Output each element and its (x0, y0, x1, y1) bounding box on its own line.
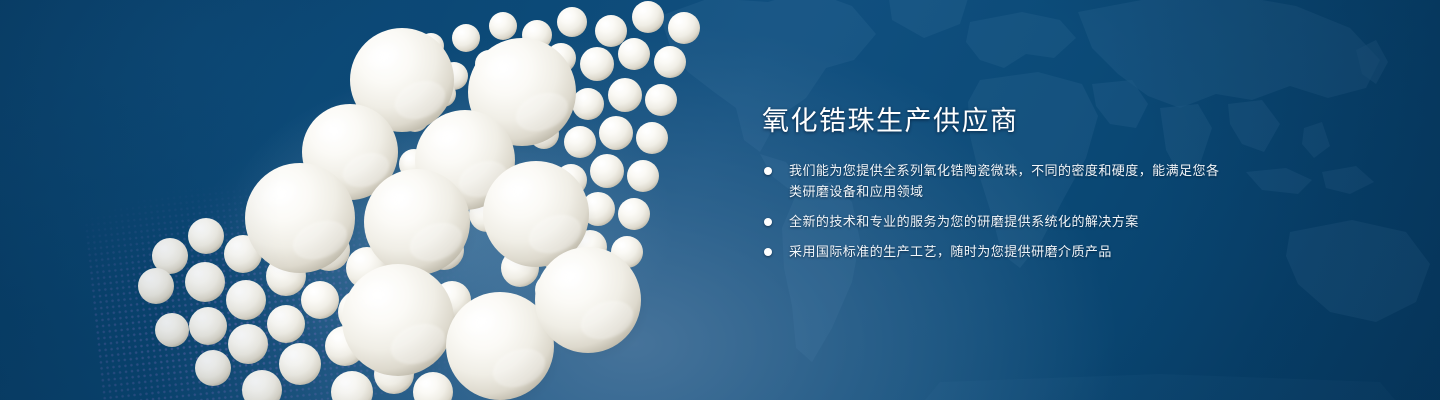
hero-banner: 氧化锆珠生产供应商 我们能为您提供全系列氧化锆陶瓷微珠，不同的密度和硬度，能满足… (0, 0, 1440, 400)
list-item-text: 采用国际标准的生产工艺，随时为您提供研磨介质产品 (789, 241, 1232, 262)
feature-list: 我们能为您提供全系列氧化锆陶瓷微珠，不同的密度和硬度，能满足您各类研磨设备和应用… (762, 160, 1232, 262)
bullet-dot-icon (764, 218, 772, 226)
banner-copy: 氧化锆珠生产供应商 我们能为您提供全系列氧化锆陶瓷微珠，不同的密度和硬度，能满足… (762, 104, 1232, 262)
bullet-dot-icon (764, 167, 772, 175)
page-title: 氧化锆珠生产供应商 (762, 104, 1232, 138)
list-item: 全新的技术和专业的服务为您的研磨提供系统化的解决方案 (762, 211, 1232, 232)
zirconia-bead-cluster-image (0, 0, 760, 400)
list-item: 我们能为您提供全系列氧化锆陶瓷微珠，不同的密度和硬度，能满足您各类研磨设备和应用… (762, 160, 1232, 202)
list-item: 采用国际标准的生产工艺，随时为您提供研磨介质产品 (762, 241, 1232, 262)
bullet-dot-icon (764, 248, 772, 256)
list-item-text: 我们能为您提供全系列氧化锆陶瓷微珠，不同的密度和硬度，能满足您各类研磨设备和应用… (789, 160, 1232, 202)
list-item-text: 全新的技术和专业的服务为您的研磨提供系统化的解决方案 (789, 211, 1232, 232)
